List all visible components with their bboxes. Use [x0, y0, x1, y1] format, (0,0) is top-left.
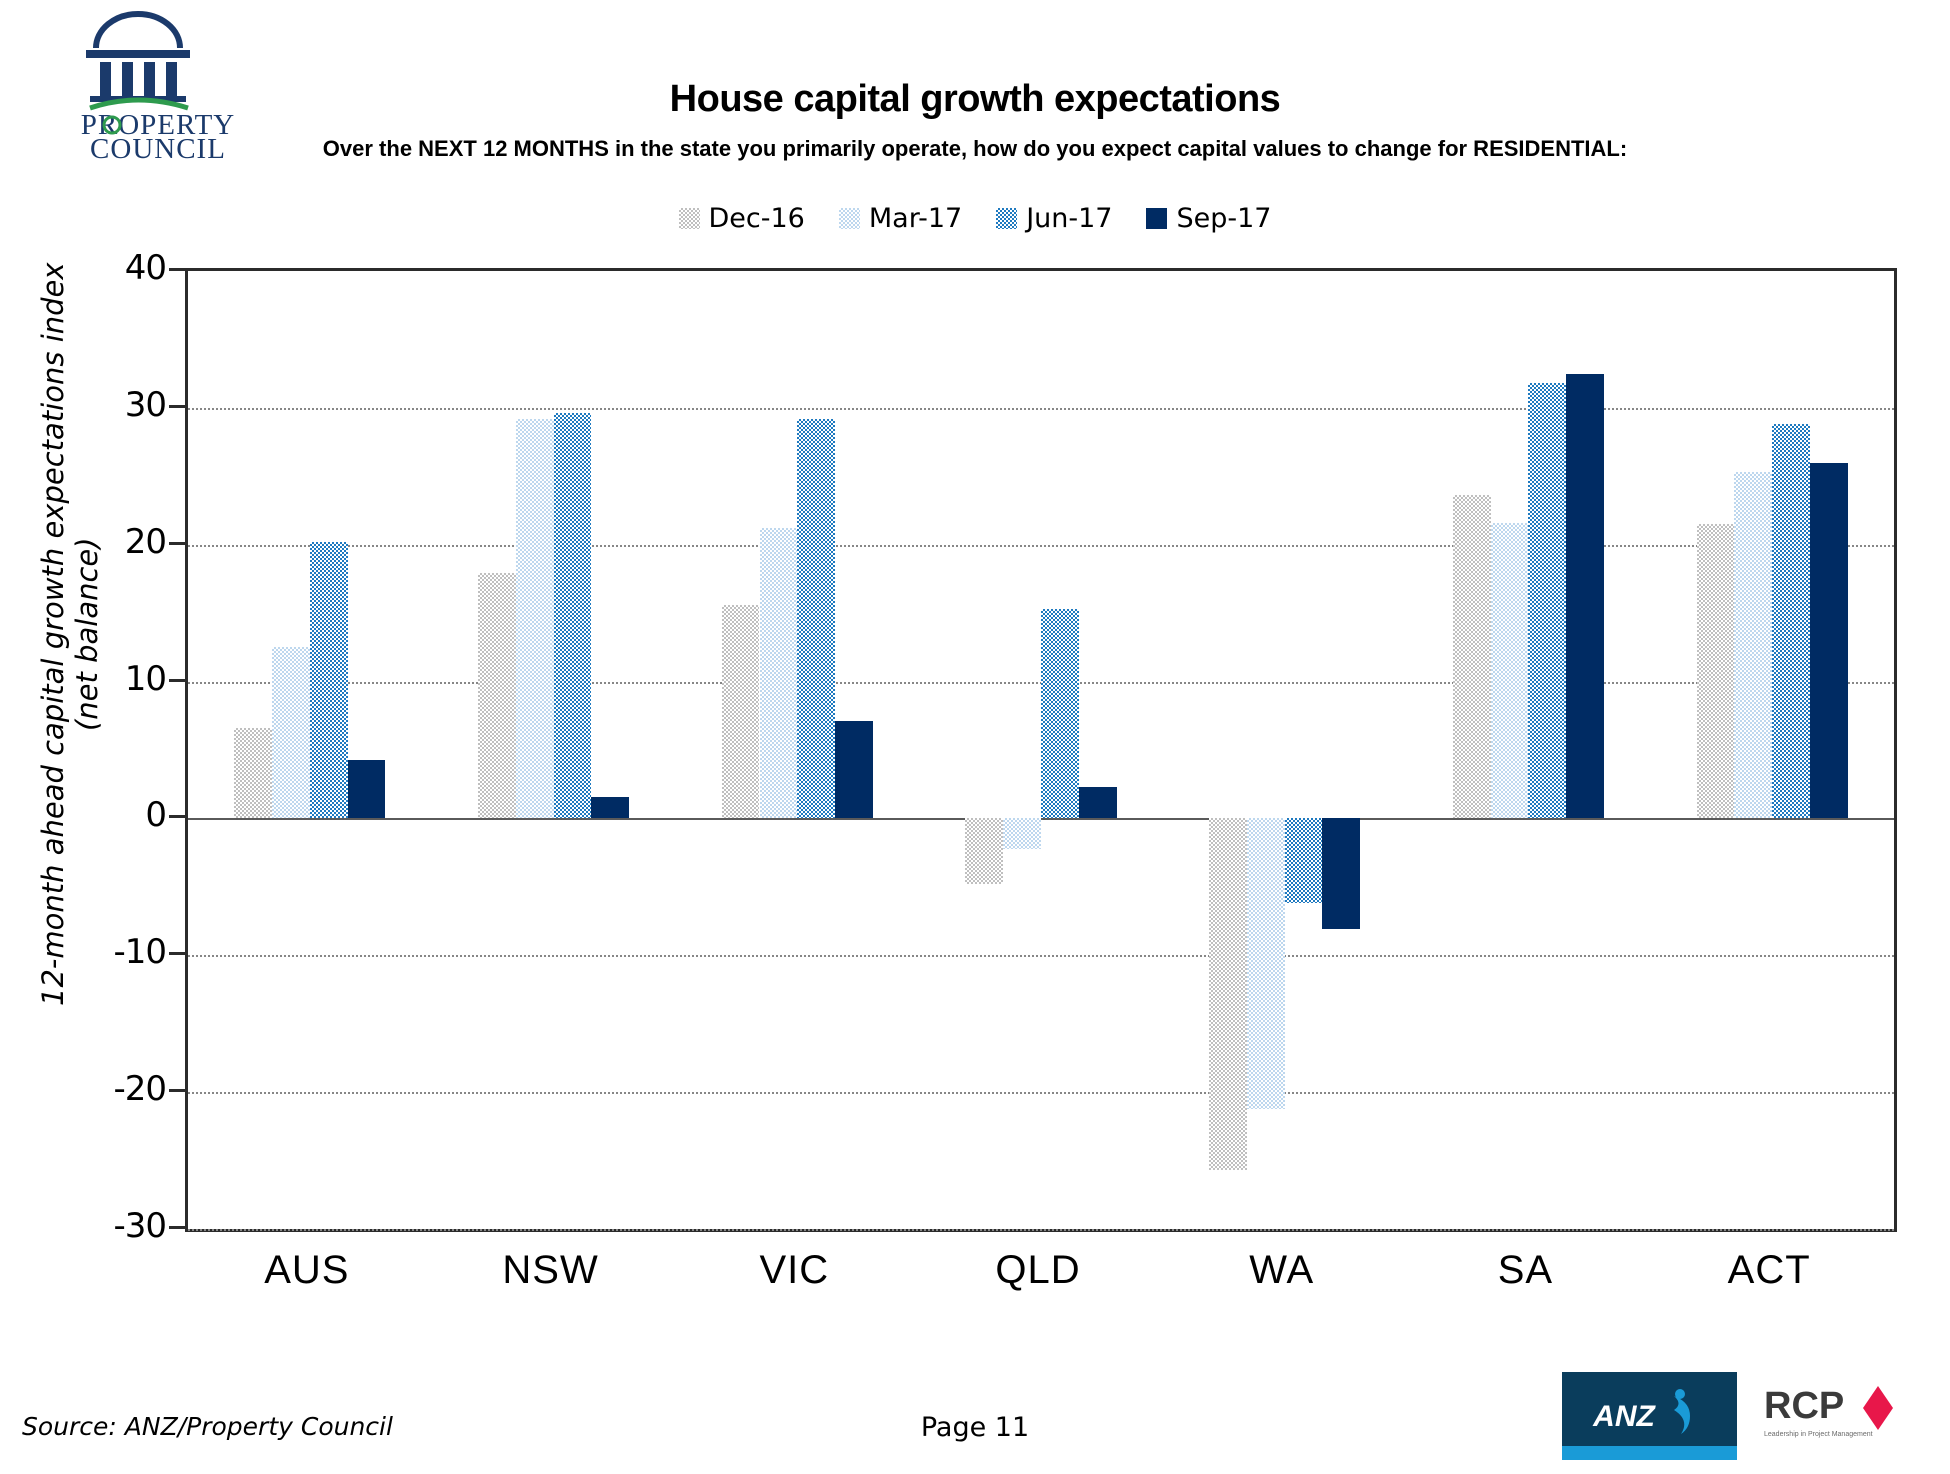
gridline: [188, 1092, 1894, 1094]
rcp-logo: RCP Leadership in Project Management: [1760, 1372, 1920, 1460]
anz-logo-label: ANZ: [1592, 1400, 1656, 1433]
bar-wa-mar-17[interactable]: [1247, 818, 1285, 1108]
bar-aus-sep-17[interactable]: [348, 760, 386, 819]
gridline: [188, 955, 1894, 957]
bar-qld-sep-17[interactable]: [1079, 787, 1117, 818]
bar-nsw-jun-17[interactable]: [554, 413, 592, 818]
zero-line: [188, 818, 1894, 820]
x-axis-label-aus: AUS: [177, 1248, 437, 1293]
bar-act-dec-16[interactable]: [1697, 524, 1735, 818]
x-axis-label-act: ACT: [1639, 1248, 1899, 1293]
bar-wa-dec-16[interactable]: [1209, 818, 1247, 1170]
x-axis-label-vic: VIC: [664, 1248, 924, 1293]
bar-vic-dec-16[interactable]: [722, 605, 760, 818]
bar-aus-mar-17[interactable]: [272, 647, 310, 818]
rcp-logo-tagline: Leadership in Project Management: [1764, 1431, 1873, 1438]
y-tick-label: -20: [36, 1069, 166, 1109]
x-axis-label-qld: QLD: [908, 1248, 1168, 1293]
y-tick-label: 10: [36, 659, 166, 699]
x-axis-label-nsw: NSW: [421, 1248, 681, 1293]
x-axis-label-wa: WA: [1152, 1248, 1412, 1293]
plot-area: [185, 268, 1897, 1232]
y-tick-mark: [169, 1226, 185, 1229]
bar-nsw-sep-17[interactable]: [591, 797, 629, 819]
bar-wa-sep-17[interactable]: [1322, 818, 1360, 929]
y-tick-label: -10: [36, 932, 166, 972]
bar-nsw-dec-16[interactable]: [478, 573, 516, 818]
y-tick-mark: [169, 952, 185, 955]
bar-act-jun-17[interactable]: [1772, 424, 1810, 818]
bar-vic-sep-17[interactable]: [835, 721, 873, 818]
y-tick-mark: [169, 542, 185, 545]
y-tick-label: 20: [36, 522, 166, 562]
y-axis-title-line1: 12-month ahead capital growth expectatio…: [36, 262, 70, 1006]
y-tick-mark: [169, 405, 185, 408]
anz-logo: ANZ: [1562, 1372, 1737, 1460]
gridline: [188, 408, 1894, 410]
y-tick-mark: [169, 268, 185, 271]
y-tick-label: 0: [36, 795, 166, 835]
rcp-logo-label: RCP: [1764, 1385, 1844, 1427]
plot-wrapper: 12-month ahead capital growth expectatio…: [0, 0, 1950, 1474]
y-tick-mark: [169, 815, 185, 818]
bar-aus-jun-17[interactable]: [310, 542, 348, 818]
y-tick-label: -30: [36, 1206, 166, 1246]
bar-sa-sep-17[interactable]: [1566, 374, 1604, 819]
bar-vic-jun-17[interactable]: [797, 419, 835, 819]
bar-qld-jun-17[interactable]: [1041, 609, 1079, 818]
gridline: [188, 1229, 1894, 1231]
bar-aus-dec-16[interactable]: [234, 728, 272, 818]
bar-sa-mar-17[interactable]: [1491, 523, 1529, 819]
bar-nsw-mar-17[interactable]: [516, 419, 554, 819]
bar-act-sep-17[interactable]: [1810, 463, 1848, 819]
y-axis-title-line2: (net balance): [70, 537, 104, 731]
x-axis-label-sa: SA: [1395, 1248, 1655, 1293]
bar-sa-dec-16[interactable]: [1453, 495, 1491, 818]
y-tick-label: 40: [36, 248, 166, 288]
bar-sa-jun-17[interactable]: [1528, 383, 1566, 818]
bar-act-mar-17[interactable]: [1734, 472, 1772, 818]
gridline: [188, 545, 1894, 547]
y-tick-mark: [169, 1089, 185, 1092]
bar-qld-dec-16[interactable]: [965, 818, 1003, 884]
y-tick-label: 30: [36, 385, 166, 425]
bar-wa-jun-17[interactable]: [1285, 818, 1323, 903]
bar-qld-mar-17[interactable]: [1003, 818, 1041, 848]
y-tick-mark: [169, 679, 185, 682]
bar-vic-mar-17[interactable]: [760, 528, 798, 818]
